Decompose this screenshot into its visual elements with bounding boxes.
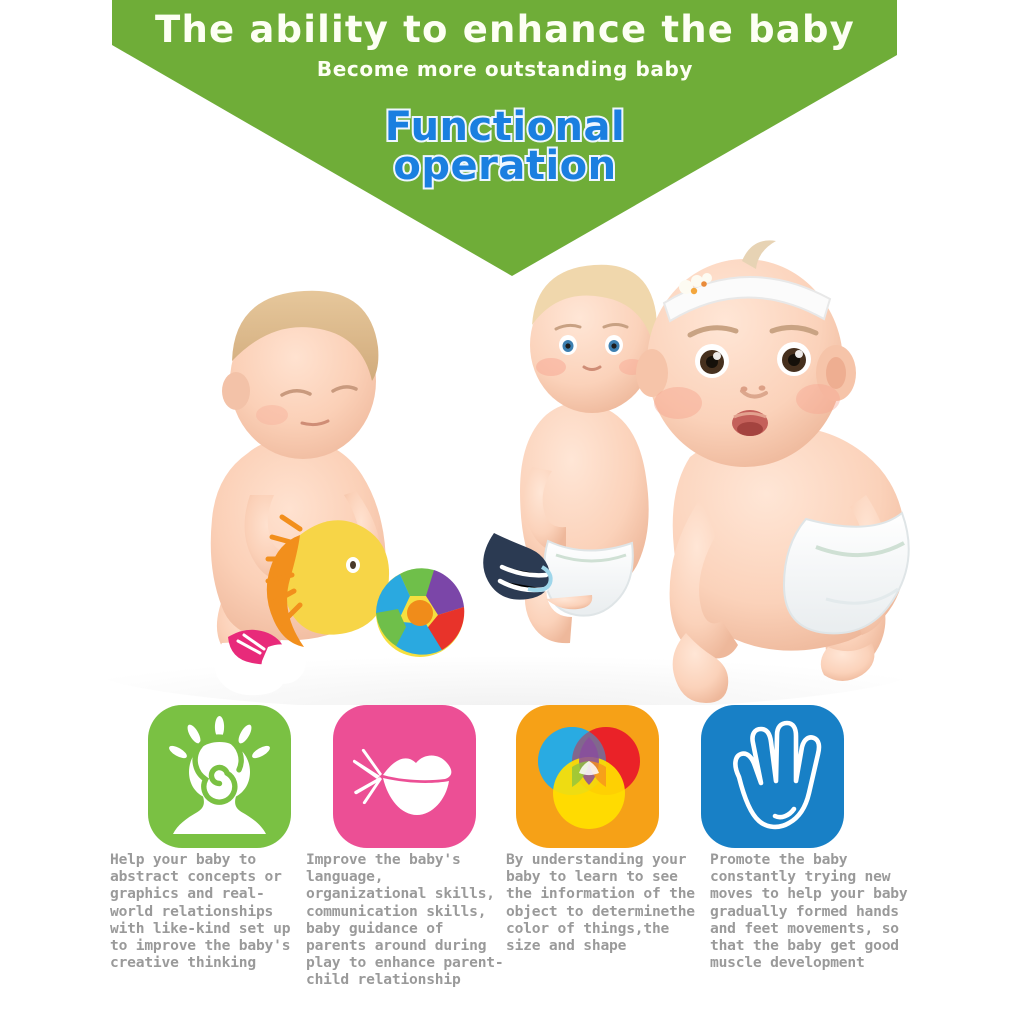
product-feature-poster: The ability to enhance the baby Become m… xyxy=(0,0,1010,1010)
speaking-lips-icon xyxy=(333,705,476,848)
page-title: The ability to enhance the baby xyxy=(0,8,1010,51)
feature-tile-language[interactable] xyxy=(333,705,476,848)
page-subtitle: Become more outstanding baby xyxy=(0,57,1010,81)
section-title-line-2: operation xyxy=(0,147,1010,186)
feature-description-motor: Promote the baby constantly trying new m… xyxy=(710,851,910,971)
feature-description-language: Improve the baby's language, organizatio… xyxy=(306,851,506,989)
feature-description-thinking: Help your baby to abstract concepts or g… xyxy=(110,851,306,971)
feature-tile-vision[interactable] xyxy=(516,705,659,848)
colorful-ball xyxy=(376,568,464,657)
section-title-functional-operation: Functional operation xyxy=(0,108,1010,186)
thinking-head-icon xyxy=(148,705,291,848)
section-title-line-1: Functional xyxy=(0,108,1010,147)
color-circles-icon xyxy=(516,705,659,848)
header-banner: The ability to enhance the baby Become m… xyxy=(0,0,1010,290)
feature-tile-motor[interactable] xyxy=(701,705,844,848)
hand-outline-icon xyxy=(701,705,844,848)
feature-description-row: Help your baby to abstract concepts or g… xyxy=(110,851,940,1001)
feature-tile-thinking[interactable] xyxy=(148,705,291,848)
feature-icon-row xyxy=(148,705,888,848)
feature-description-vision: By understanding your baby to learn to s… xyxy=(506,851,698,954)
